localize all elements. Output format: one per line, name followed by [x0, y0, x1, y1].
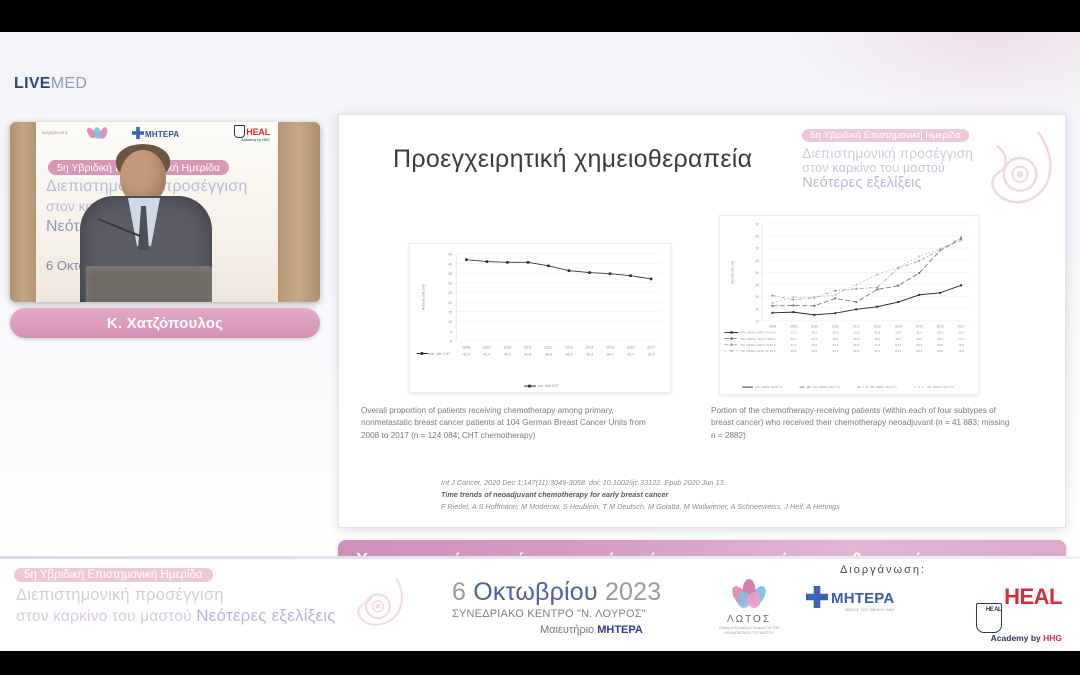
citation-title: Time trends of neoadjuvant chemotherapy … — [441, 489, 1021, 501]
svg-text:80: 80 — [755, 235, 759, 239]
svg-text:30: 30 — [755, 295, 759, 299]
svg-text:2011: 2011 — [832, 325, 839, 329]
svg-text:2013: 2013 — [874, 325, 881, 329]
footer-badge: 5η Υβριδική Επιστημονική Ημερίδα — [14, 568, 213, 582]
speaker-name-badge: Κ. Χατζόπουλος — [10, 308, 320, 338]
svg-text:77.6: 77.6 — [958, 337, 964, 341]
svg-text:25: 25 — [448, 291, 452, 295]
chart-nact-by-subtype: 102030405060708090Annual rate (%)2008200… — [719, 215, 979, 395]
footer-organizer-label: Διοργάνωση: — [840, 564, 926, 576]
svg-text:45: 45 — [448, 253, 452, 257]
svg-text:76.2: 76.2 — [958, 349, 964, 353]
bottom-letterbox — [0, 651, 1080, 675]
svg-text:33.1: 33.1 — [937, 331, 943, 335]
svg-text:HR+ HER2+ NACT %: HR+ HER2+ NACT % — [812, 385, 840, 389]
video-wall-left — [10, 122, 36, 302]
footer-heal-name-row: HE ALHEAL — [976, 584, 1062, 633]
footer-heal-sub: Academy by HHG — [976, 633, 1062, 643]
svg-text:39.8: 39.8 — [853, 349, 859, 353]
footer-lotus-sub: Σύλλογος Ελληνίδων Γυναικών ΓΙΑ ΤΗΝ ΑΠΟΚ… — [712, 626, 786, 636]
svg-text:2010: 2010 — [811, 325, 818, 329]
svg-text:2014: 2014 — [895, 325, 902, 329]
svg-text:36.5: 36.5 — [853, 343, 859, 347]
svg-text:90: 90 — [755, 222, 759, 226]
svg-text:2015: 2015 — [916, 325, 923, 329]
svg-text:2012: 2012 — [545, 346, 553, 350]
svg-text:22.4: 22.4 — [769, 337, 775, 341]
speaker-video[interactable]: Διοργάνωση: ΜΗΤΕΡΑ HEALAcademy by HHG 5η… — [10, 122, 320, 302]
svg-text:29.6: 29.6 — [811, 349, 817, 353]
svg-text:14.9: 14.9 — [811, 331, 817, 335]
svg-text:16.6: 16.6 — [769, 331, 775, 335]
svg-text:35.3: 35.3 — [586, 352, 593, 356]
screen: LIVEMED Διοργάνωση: ΜΗΤΕΡΑ HEALAcademy b… — [0, 0, 1080, 675]
presentation-content-area: LIVEMED Διοργάνωση: ΜΗΤΕΡΑ HEALAcademy b… — [0, 32, 1080, 556]
svg-text:35.9: 35.9 — [874, 337, 880, 341]
mitera-cross-icon — [806, 586, 828, 608]
svg-text:29.5: 29.5 — [790, 349, 796, 353]
svg-text:42.0: 42.0 — [463, 352, 470, 356]
backdrop-lotus-icon — [88, 124, 108, 146]
svg-text:10: 10 — [448, 320, 452, 324]
svg-text:2016: 2016 — [627, 346, 635, 350]
video-wall-right — [278, 122, 320, 302]
backdrop-organizer-label: Διοργάνωση: — [42, 130, 69, 135]
footer-venue: ΣΥΝΕΔΡΙΑΚΟ ΚΕΝΤΡΟ "Ν. ΛΟΥΡΟΣ" — [452, 608, 646, 620]
footer-lotus-logo: ΛΩΤΟΣ Σύλλογος Ελληνίδων Γυναικών ΓΙΑ ΤΗ… — [712, 578, 786, 634]
svg-text:pat. with CHT: pat. with CHT — [429, 352, 451, 356]
svg-text:HR+ HER2- NACT %: HR+ HER2- NACT % — [755, 385, 782, 389]
citation-journal: Int J Cancer, 2020 Dec 1;147(11):3049-30… — [441, 477, 1021, 489]
livemed-logo[interactable]: LIVEMED — [14, 75, 87, 93]
svg-text:54.1: 54.1 — [895, 349, 901, 353]
citation-authors: F Riedel, A S Hoffmann, M Moderow, S Heu… — [441, 501, 1021, 513]
svg-text:36.3: 36.3 — [566, 352, 573, 356]
svg-text:40.6: 40.6 — [525, 352, 532, 356]
svg-text:2016: 2016 — [937, 325, 944, 329]
footer-lotus-name: ΛΩΤΟΣ — [712, 614, 786, 625]
svg-text:31.4: 31.4 — [916, 331, 922, 335]
backdrop-mitera-logo: ΜΗΤΕΡΑ — [132, 127, 179, 139]
svg-text:25.5: 25.5 — [853, 337, 859, 341]
svg-text:40: 40 — [755, 283, 759, 287]
slide[interactable]: 5η Υβριδική Επιστημονική Ημερίδα Διεπιστ… — [338, 114, 1066, 528]
svg-text:2011: 2011 — [524, 346, 532, 350]
svg-text:38.8: 38.8 — [545, 352, 552, 356]
topic-banner: Χειρουργική προσέγγιση μετά από νεοεπικο… — [338, 540, 1066, 556]
svg-text:32.0: 32.0 — [648, 352, 655, 356]
svg-text:37.6: 37.6 — [874, 343, 880, 347]
footer-date: 6 Οκτωβρίου 2023 — [452, 578, 661, 607]
footer-heal-logo: HE ALHEAL Academy by HHG — [976, 584, 1062, 643]
footer-line2: στον καρκίνο του μαστού Νεότερες εξελίξε… — [16, 606, 336, 626]
citation-block: Int J Cancer, 2020 Dec 1;147(11):3049-30… — [441, 477, 1021, 512]
svg-text:2008: 2008 — [769, 325, 776, 329]
speaker-podium — [86, 266, 212, 302]
slide-header-badge: 5η Υβριδική Επιστημονική Ημερίδα — [802, 129, 969, 142]
svg-text:15: 15 — [448, 311, 452, 315]
svg-text:34.9: 34.9 — [832, 343, 838, 347]
livemed-logo-secondary: MED — [51, 75, 87, 92]
svg-text:27.4: 27.4 — [790, 343, 796, 347]
footer-breast-icon — [352, 576, 406, 630]
svg-text:63.3: 63.3 — [916, 349, 922, 353]
svg-text:22.6: 22.6 — [790, 337, 796, 341]
svg-text:16.3: 16.3 — [832, 331, 838, 335]
svg-text:29.0: 29.0 — [811, 343, 817, 347]
footer-venue-sub: Μαιευτήριο ΜΗΤΕΡΑ — [540, 624, 643, 636]
svg-text:31.3: 31.3 — [832, 349, 838, 353]
svg-text:2008: 2008 — [462, 346, 470, 350]
footer-line1: Διεπιστημονική προσέγγιση — [16, 586, 224, 605]
footer-mitera-name: ΜΗΤΕΡΑ — [831, 590, 894, 607]
svg-text:40: 40 — [448, 262, 452, 266]
svg-text:50: 50 — [755, 271, 759, 275]
svg-text:79.0: 79.0 — [958, 343, 964, 347]
svg-text:68.5: 68.5 — [937, 343, 943, 347]
svg-text:HR- HER2+ NACT %: HR- HER2+ NACT % — [870, 385, 897, 389]
svg-text:35: 35 — [448, 272, 452, 276]
slide-header-line1: Διεπιστημονική προσέγγιση — [802, 146, 973, 161]
svg-text:39.0: 39.0 — [895, 337, 901, 341]
svg-text:30: 30 — [448, 282, 452, 286]
svg-text:10: 10 — [755, 319, 759, 323]
svg-text:48.1: 48.1 — [874, 349, 880, 353]
svg-text:2010: 2010 — [503, 346, 511, 350]
svg-text:59.5: 59.5 — [916, 343, 922, 347]
svg-text:25.5: 25.5 — [895, 331, 901, 335]
svg-text:68.1: 68.1 — [937, 337, 943, 341]
svg-text:53.4: 53.4 — [895, 343, 901, 347]
svg-text:2017: 2017 — [647, 346, 655, 350]
slide-title: Προεγχειρητική χημειοθεραπεία — [393, 143, 752, 175]
slide-header-line2: στον καρκίνο του μαστού — [802, 161, 973, 175]
caption-right: Portion of the chemotherapy-receiving pa… — [711, 405, 1016, 442]
heal-shield-icon: HE AL — [976, 603, 1002, 633]
footer-mitera-logo: ΜΗΤΕΡΑ ΜΕΛΟΣ ΤΟΥ ΟΜΙΛΟΥ HHG — [806, 586, 894, 612]
svg-text:HR- HER2+ NACT %: HR- HER2+ NACT % — [740, 343, 769, 347]
svg-text:HR+ HER2- NACT %: HR+ HER2- NACT % — [740, 331, 769, 335]
chart-right-svg: 102030405060708090Annual rate (%)2008200… — [720, 216, 978, 394]
svg-text:2012: 2012 — [853, 325, 860, 329]
svg-text:69.8: 69.8 — [937, 349, 943, 353]
svg-text:0: 0 — [450, 339, 452, 343]
svg-text:17.2: 17.2 — [790, 331, 796, 335]
svg-text:2015: 2015 — [606, 346, 614, 350]
svg-text:21.6: 21.6 — [874, 331, 880, 335]
svg-text:2014: 2014 — [586, 346, 594, 350]
svg-text:HR+ HER2+ NACT %: HR+ HER2+ NACT % — [740, 337, 770, 341]
svg-text:2013: 2013 — [565, 346, 573, 350]
svg-text:HR- HER2- NACT %: HR- HER2- NACT % — [740, 349, 768, 353]
livemed-logo-primary: LIVE — [14, 75, 51, 92]
event-footer: 5η Υβριδική Επιστημονική Ημερίδα Διεπιστ… — [0, 556, 1080, 651]
svg-text:39.3: 39.3 — [958, 331, 964, 335]
svg-text:70: 70 — [755, 247, 759, 251]
top-letterbox — [0, 0, 1080, 32]
svg-text:20: 20 — [448, 301, 452, 305]
svg-text:24.6: 24.6 — [769, 349, 775, 353]
svg-text:2009: 2009 — [790, 325, 797, 329]
svg-text:HR- HER2- NACT %: HR- HER2- NACT % — [927, 385, 954, 389]
svg-text:2017: 2017 — [958, 325, 965, 329]
svg-text:Annual rate (%): Annual rate (%) — [730, 261, 734, 284]
svg-text:pat. with CHT: pat. with CHT — [538, 384, 560, 388]
chart-left-svg: 051015202530354045Annual rate (%)2008200… — [410, 244, 670, 392]
svg-text:19.5: 19.5 — [853, 331, 859, 335]
backdrop-heal-sub: Academy by HHG — [234, 138, 270, 142]
svg-text:Annual rate (%): Annual rate (%) — [422, 284, 426, 311]
speaker-name: Κ. Χατζόπουλος — [107, 315, 223, 332]
slide-header: 5η Υβριδική Επιστημονική Ημερίδα Διεπιστ… — [802, 125, 973, 191]
svg-text:20: 20 — [755, 307, 759, 311]
svg-text:22.4: 22.4 — [811, 337, 817, 341]
chart-overall-chemotherapy: 051015202530354045Annual rate (%)2008200… — [409, 243, 671, 393]
svg-text:41.0: 41.0 — [483, 352, 490, 356]
svg-text:2009: 2009 — [483, 346, 491, 350]
svg-text:34.7: 34.7 — [607, 352, 614, 356]
svg-text:60: 60 — [755, 259, 759, 263]
heal-shield-icon — [234, 125, 245, 138]
svg-text:30.9: 30.9 — [769, 343, 775, 347]
svg-text:33.7: 33.7 — [627, 352, 634, 356]
svg-text:49.5: 49.5 — [916, 337, 922, 341]
caption-left: Overall proportion of patients receiving… — [361, 405, 661, 442]
video-backdrop: Διοργάνωση: ΜΗΤΕΡΑ HEALAcademy by HHG 5η… — [36, 122, 278, 302]
mitera-cross-icon — [132, 127, 144, 139]
svg-text:40.6: 40.6 — [504, 352, 511, 356]
lotus-flower-icon — [728, 578, 770, 608]
svg-text:28.5: 28.5 — [832, 337, 838, 341]
breast-outline-icon — [971, 127, 1057, 213]
backdrop-heal-logo: HEALAcademy by HHG — [234, 125, 270, 142]
svg-text:5: 5 — [450, 330, 452, 334]
footer-mitera-sub: ΜΕΛΟΣ ΤΟΥ ΟΜΙΛΟΥ HHG — [806, 608, 894, 612]
slide-header-line3: Νεότερες εξελίξεις — [802, 175, 973, 191]
